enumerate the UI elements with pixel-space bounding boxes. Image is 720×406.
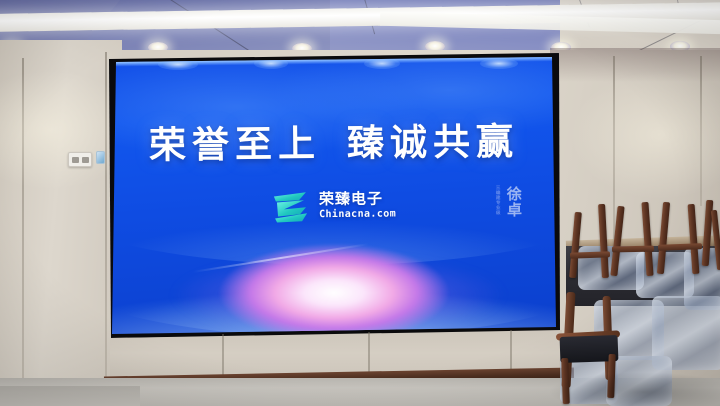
- brand-name-cn: 荣臻电子: [319, 191, 396, 207]
- screen-glow-core: [174, 233, 494, 334]
- chair-rail: [612, 246, 654, 253]
- brand-text: 荣臻电子 Chinacna.com: [319, 191, 396, 220]
- slogan-left: 荣誉至上: [149, 124, 321, 167]
- double-arrow-mark-icon: [272, 189, 312, 223]
- wall-socket-upper[interactable]: [68, 152, 92, 167]
- brand-lockup: 荣臻电子 Chinacna.com: [272, 188, 396, 223]
- wall-panel-seam: [22, 58, 24, 406]
- room-photo-scene: 荣誉至上臻诚共赢: [0, 0, 720, 406]
- watermark-large-text: 徐卓: [504, 186, 520, 218]
- wooden-dining-chair: [556, 292, 618, 406]
- brand-domain: Chinacna.com: [319, 209, 396, 220]
- display-watermark: 三编建专业级 徐卓: [496, 185, 520, 218]
- wooden-dining-chair: [614, 282, 684, 406]
- wall-panel-seam: [700, 56, 702, 206]
- slogan-right: 臻诚共赢: [347, 122, 519, 165]
- screen-arc-band: [112, 207, 556, 334]
- watermark-small-text: 三编建专业级: [496, 185, 501, 218]
- side-wall-left: [0, 40, 122, 406]
- screen-glow-streak: [193, 243, 369, 273]
- wooden-dining-chair: [686, 276, 720, 406]
- wall-panel-seam: [105, 52, 107, 392]
- led-display-screen[interactable]: 荣誉至上臻诚共赢: [112, 57, 556, 334]
- display-slogan: 荣誉至上臻诚共赢: [112, 111, 556, 170]
- screen-glow-halo: [130, 245, 547, 334]
- floor-left: [0, 386, 140, 406]
- blue-network-module[interactable]: [96, 151, 105, 164]
- wall-shadow: [550, 48, 720, 82]
- wall-panel-seam: [613, 56, 615, 246]
